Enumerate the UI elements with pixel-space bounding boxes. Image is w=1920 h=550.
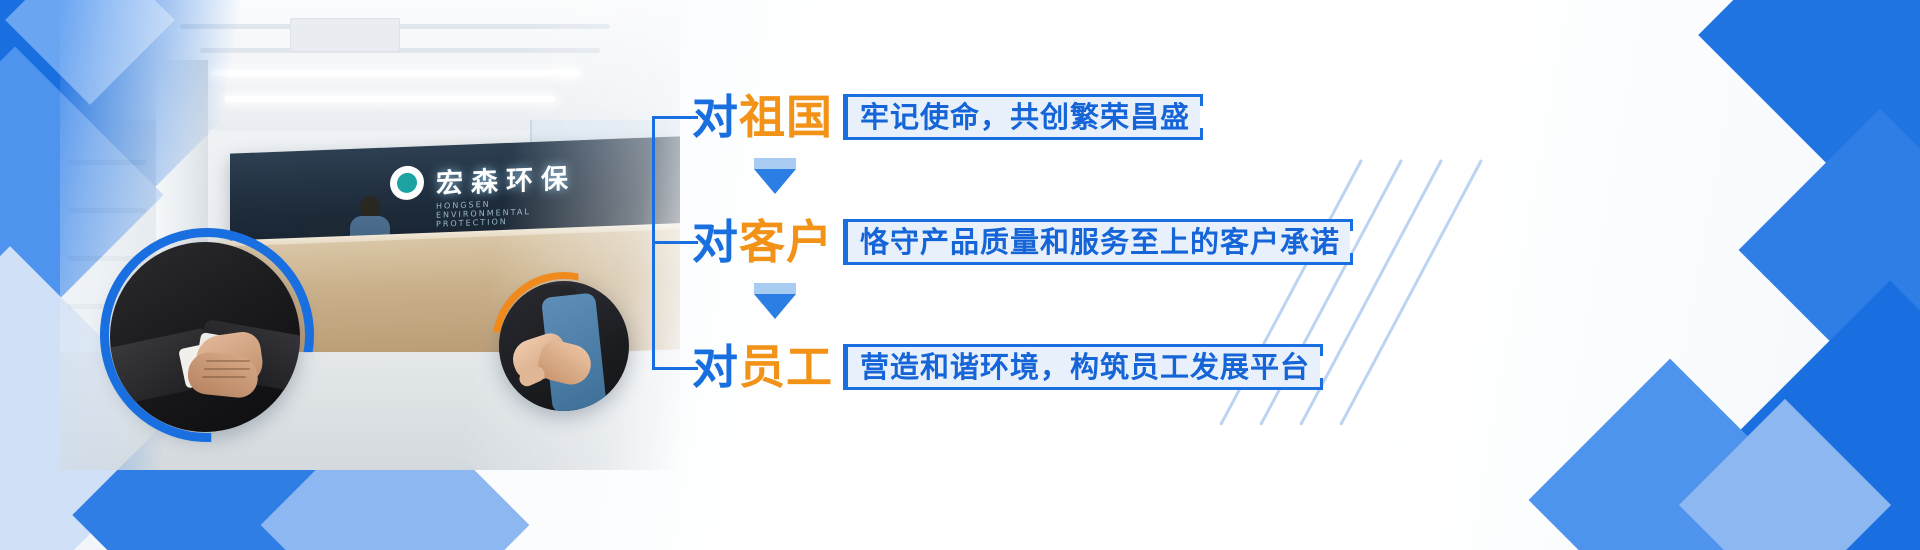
slogan-title-1: 对祖国 [692,94,833,140]
ceiling-line [200,48,600,53]
ceiling-vent [290,18,400,52]
slogan-subject-2: 客户 [739,215,833,269]
ceiling-light [210,70,580,76]
company-logo-mark [390,165,424,200]
company-signage: 宏森环保 HONGSEN ENVIRONMENTAL PROTECTION [390,156,576,202]
slogan-title-2: 对客户 [692,219,833,265]
slogan-row-3: 对员工 营造和谐环境，构筑员工发展平台 [692,338,1320,396]
slogan-subject-3: 员工 [739,340,833,394]
slogan-statement-1: 牢记使命，共创繁荣昌盛 [860,103,1190,132]
slogan-statement-box-1: 牢记使命，共创繁荣昌盛 [843,94,1200,140]
promo-banner: 宏森环保 HONGSEN ENVIRONMENTAL PROTECTION [0,0,1920,550]
slogan-prefix-2: 对 [692,215,739,269]
slogan-prefix-3: 对 [692,340,739,394]
company-name-text: 宏森环保 [436,156,576,200]
slogan-prefix-1: 对 [692,90,739,144]
company-subtitle-text: HONGSEN ENVIRONMENTAL PROTECTION [436,196,576,228]
slogan-subject-1: 祖国 [739,90,833,144]
down-arrow-icon-1 [752,158,798,194]
slogan-group: 对祖国 牢记使命，共创繁荣昌盛 对客户 恪守产品质量和服务至上的客户承诺 对员工 [652,78,1352,378]
slogan-statement-box-2: 恪守产品质量和服务至上的客户承诺 [843,219,1350,265]
slogan-statement-2: 恪守产品质量和服务至上的客户承诺 [860,228,1340,257]
slogan-statement-box-3: 营造和谐环境，构筑员工发展平台 [843,344,1320,390]
decor-diagonal-lines [1350,160,1590,440]
slogan-statement-3: 营造和谐环境，构筑员工发展平台 [860,353,1310,382]
slogan-title-3: 对员工 [692,344,833,390]
down-arrow-icon-2 [752,283,798,319]
slogan-row-1: 对祖国 牢记使命，共创繁荣昌盛 [692,88,1200,146]
ceiling-light [225,96,555,102]
slogan-row-2: 对客户 恪守产品质量和服务至上的客户承诺 [692,213,1350,271]
